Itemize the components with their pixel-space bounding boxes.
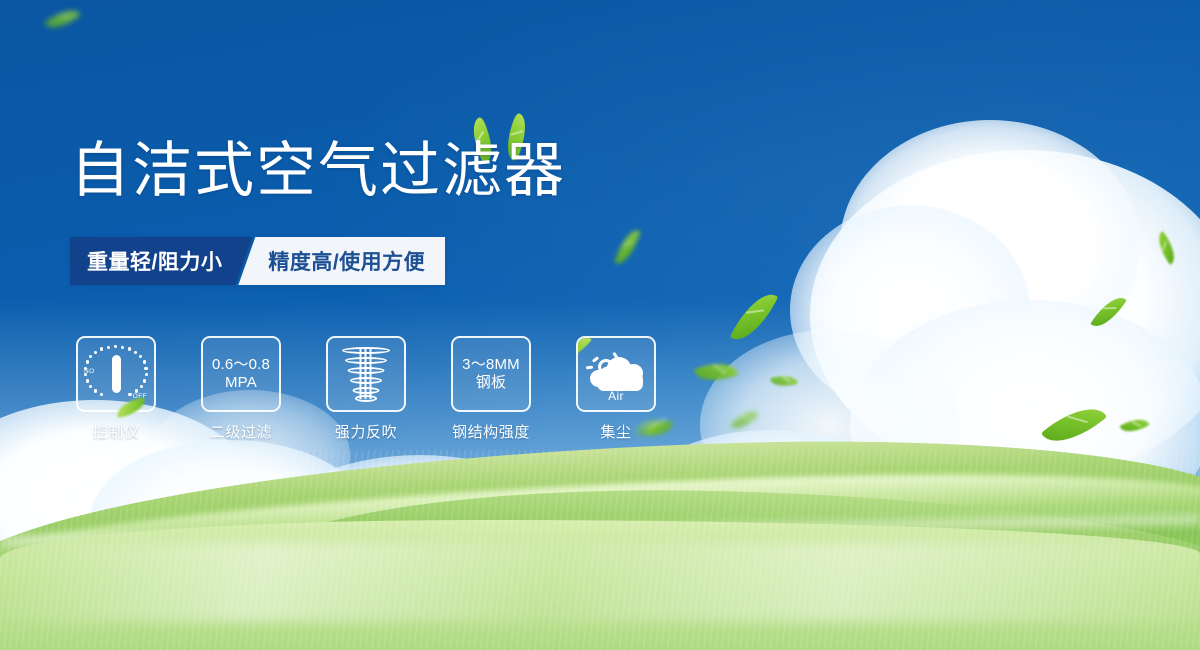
promo-banner: 自洁式空气过滤器 重量轻/阻力小 精度高/使用方便 bbox=[0, 0, 1200, 650]
gauge-icon: NO OFF bbox=[85, 345, 147, 403]
feature-item-blowback[interactable]: 强力反吹 bbox=[320, 336, 412, 442]
subtitle-tag-secondary: 精度高/使用方便 bbox=[238, 237, 445, 285]
gauge-label-no: NO bbox=[84, 368, 95, 375]
feature-item-steel[interactable]: 3～8MM 钢板 钢结构强度 bbox=[445, 336, 537, 442]
feature-label: 集尘 bbox=[600, 421, 631, 442]
feature-icon-box bbox=[326, 336, 406, 412]
feature-list: NO OFF 控制仪 0.6～0.8 MPA 二级过滤 bbox=[70, 336, 662, 442]
gauge-needle bbox=[112, 355, 121, 393]
feature-icon-box: 3～8MM 钢板 bbox=[451, 336, 531, 412]
coil-icon bbox=[340, 345, 392, 403]
air-label: Air bbox=[584, 389, 648, 403]
feature-item-pressure[interactable]: 0.6～0.8 MPA 二级过滤 bbox=[195, 336, 287, 442]
feature-item-controller[interactable]: NO OFF 控制仪 bbox=[70, 336, 162, 442]
feature-label: 控制仪 bbox=[93, 421, 140, 442]
feature-item-dust[interactable]: Air 集尘 bbox=[570, 336, 662, 442]
banner-content: 自洁式空气过滤器 重量轻/阻力小 精度高/使用方便 bbox=[0, 0, 1200, 650]
subtitle-tag-primary: 重量轻/阻力小 bbox=[70, 237, 252, 285]
feature-label: 强力反吹 bbox=[335, 421, 397, 442]
feature-label: 二级过滤 bbox=[210, 421, 272, 442]
feature-icon-box: Air bbox=[576, 336, 656, 412]
feature-label: 钢结构强度 bbox=[452, 421, 530, 442]
air-cloud-icon: Air bbox=[584, 349, 648, 399]
subtitle-bar: 重量轻/阻力小 精度高/使用方便 bbox=[70, 237, 445, 285]
page-title: 自洁式空气过滤器 bbox=[70, 141, 566, 201]
feature-icon-box: 0.6～0.8 MPA bbox=[201, 336, 281, 412]
steel-plate-icon: 3～8MM 钢板 bbox=[462, 356, 520, 393]
pressure-icon: 0.6～0.8 MPA bbox=[212, 356, 270, 393]
